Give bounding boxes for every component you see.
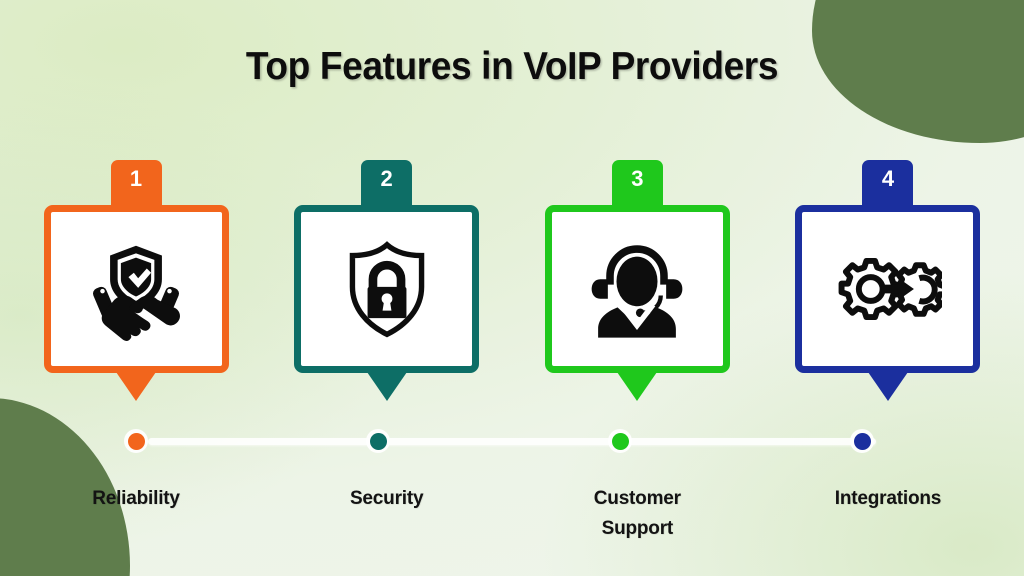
timeline bbox=[38, 441, 986, 443]
feature-pointer-4 bbox=[868, 372, 908, 401]
timeline-dot-1 bbox=[128, 433, 145, 450]
timeline-dot-4 bbox=[854, 433, 871, 450]
timeline-node-2[interactable] bbox=[366, 429, 390, 453]
feature-card-1[interactable]: 1 bbox=[38, 160, 234, 410]
feature-labels-row: Reliability Security Customer Support In… bbox=[38, 484, 986, 545]
feature-label-3: Customer Support bbox=[539, 484, 735, 545]
feature-label-4: Integrations bbox=[790, 484, 986, 545]
feature-icon-box-2 bbox=[294, 205, 479, 373]
handshake-shield-check-icon bbox=[82, 235, 190, 343]
feature-card-4[interactable]: 4 bbox=[790, 160, 986, 410]
feature-pointer-1 bbox=[116, 372, 156, 401]
gears-arrow-integration-icon bbox=[834, 235, 942, 343]
timeline-node-1[interactable] bbox=[124, 429, 148, 453]
feature-label-1: Reliability bbox=[38, 484, 234, 545]
feature-number-1: 1 bbox=[130, 168, 142, 190]
feature-icon-box-4 bbox=[795, 205, 980, 373]
feature-pointer-2 bbox=[367, 372, 407, 401]
infographic-content: Top Features in VoIP Providers 1 bbox=[0, 0, 1024, 576]
feature-number-4: 4 bbox=[882, 168, 894, 190]
timeline-node-4[interactable] bbox=[850, 429, 874, 453]
feature-icon-box-3 bbox=[545, 205, 730, 373]
feature-icon-box-1 bbox=[44, 205, 229, 373]
timeline-dot-2 bbox=[370, 433, 387, 450]
timeline-node-3[interactable] bbox=[608, 429, 632, 453]
feature-pointer-3 bbox=[617, 372, 657, 401]
headset-agent-icon bbox=[583, 235, 691, 343]
feature-card-2[interactable]: 2 bbox=[289, 160, 485, 410]
timeline-line bbox=[148, 438, 876, 445]
feature-label-2: Security bbox=[289, 484, 485, 545]
feature-card-3[interactable]: 3 bbox=[539, 160, 735, 410]
shield-padlock-icon bbox=[333, 235, 441, 343]
feature-number-3: 3 bbox=[631, 168, 643, 190]
feature-number-2: 2 bbox=[381, 168, 393, 190]
timeline-dot-3 bbox=[612, 433, 629, 450]
feature-cards-row: 1 2 bbox=[38, 160, 986, 410]
page-title: Top Features in VoIP Providers bbox=[26, 45, 999, 89]
